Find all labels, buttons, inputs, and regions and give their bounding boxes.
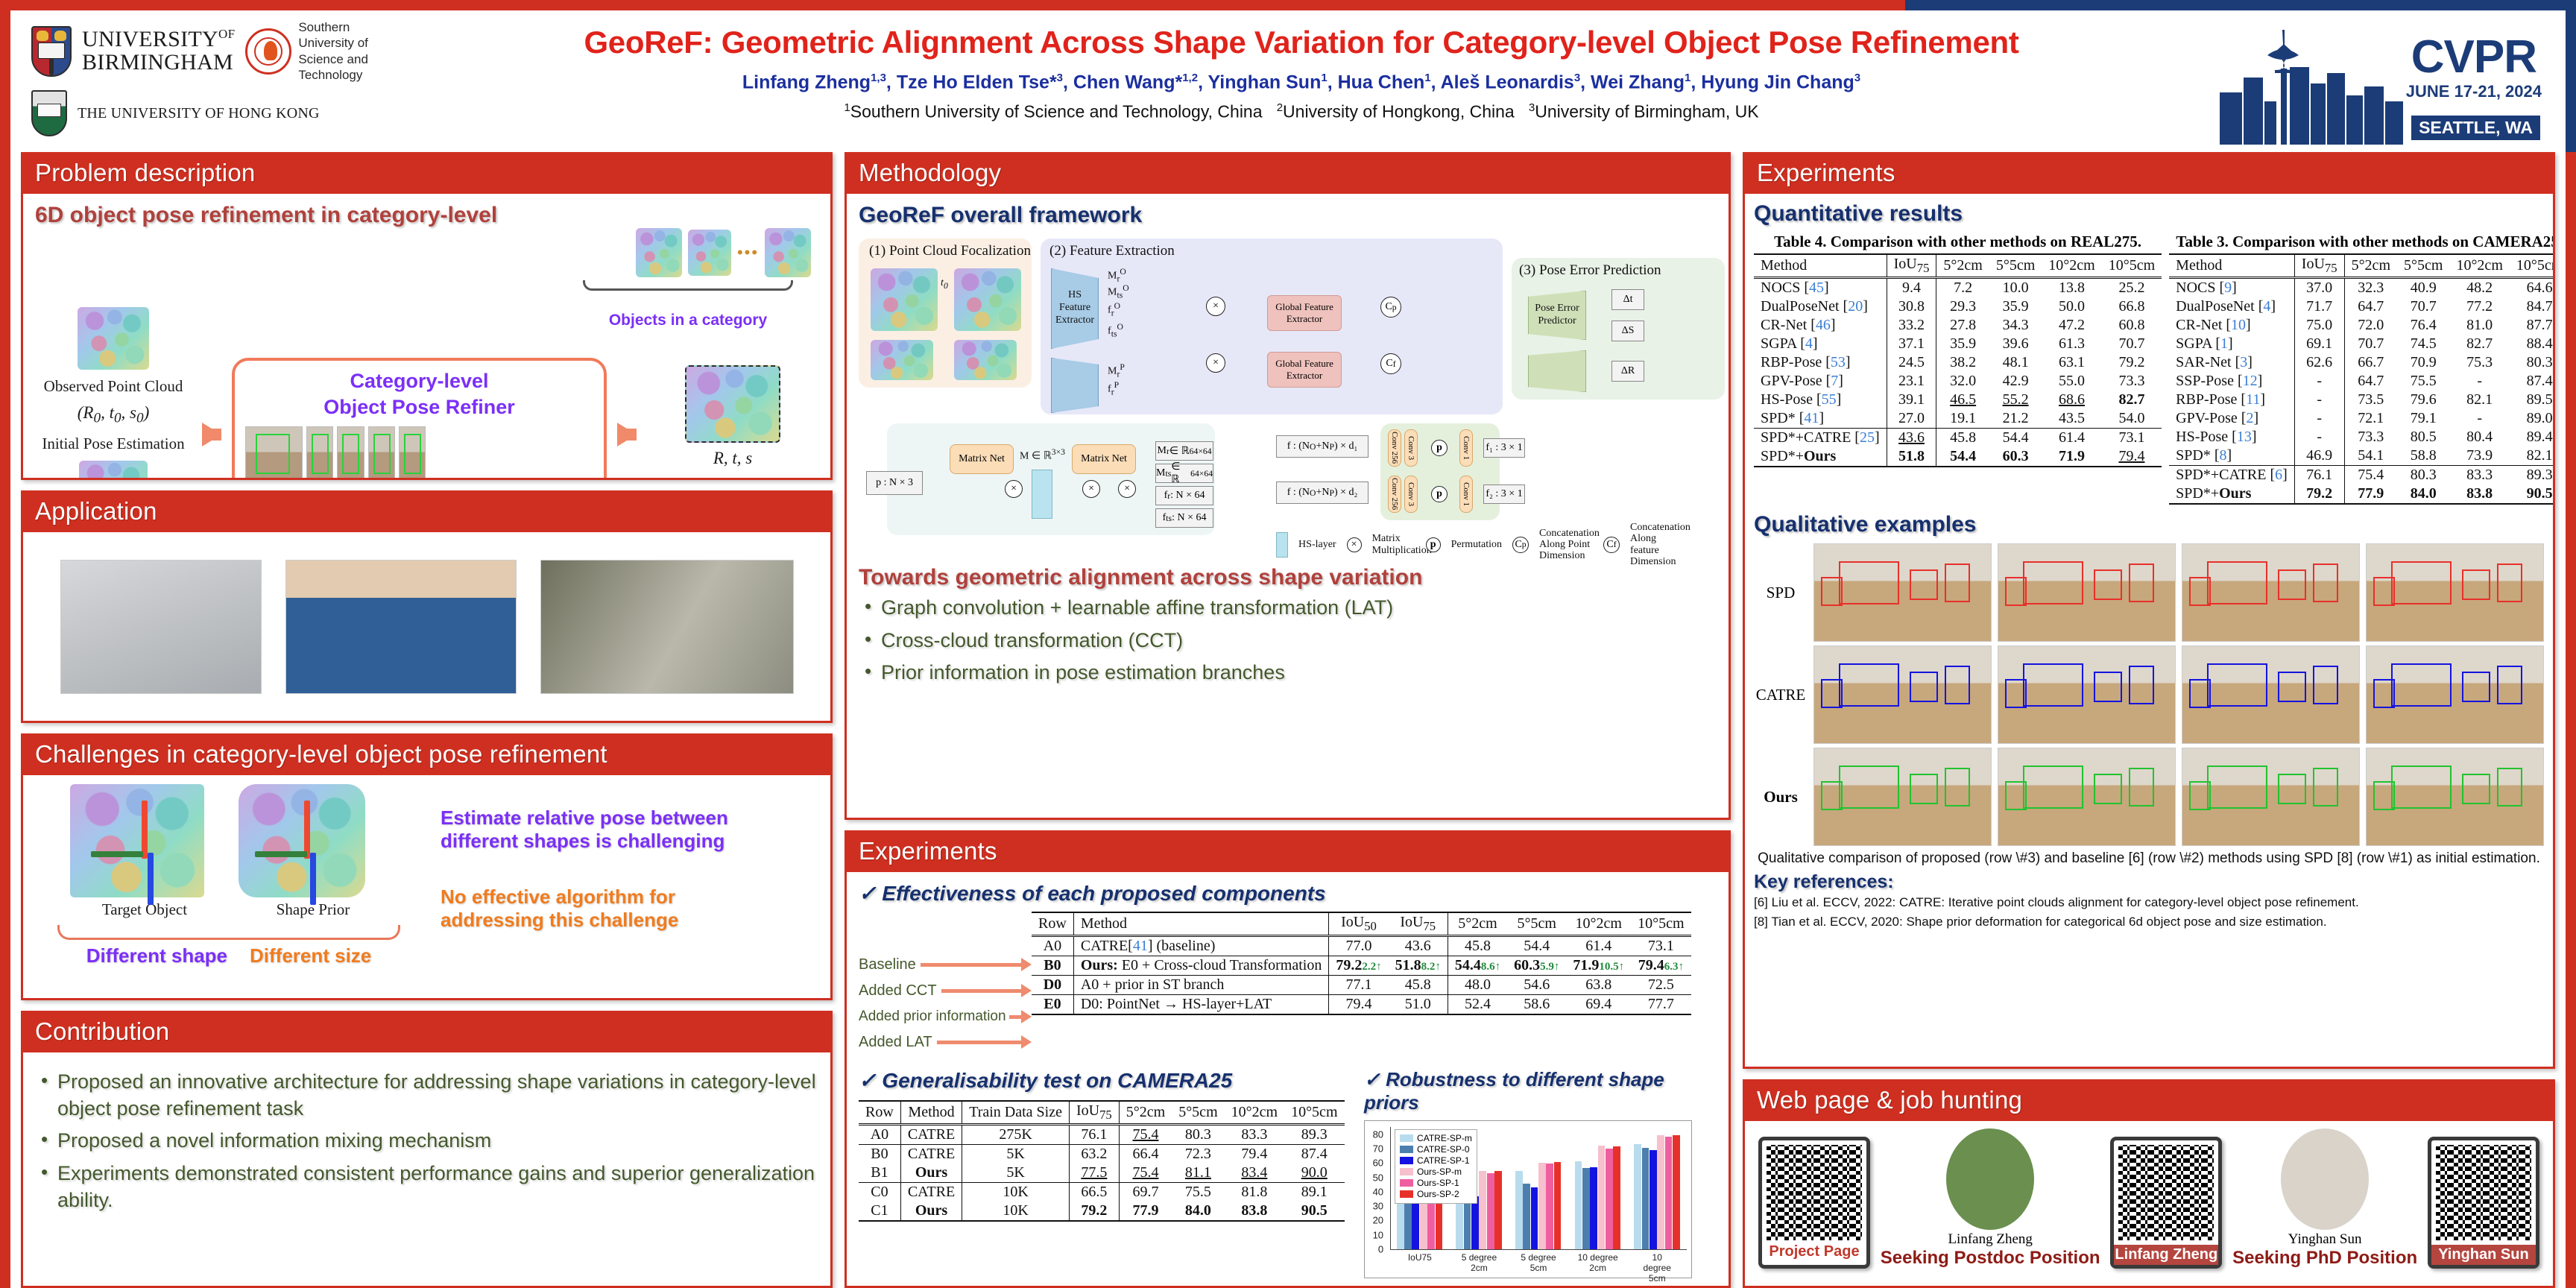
panel-application-heading: Application: [23, 493, 830, 532]
cell-value: -: [2449, 409, 2509, 428]
annotation-arrow-icon: [937, 1041, 1023, 1044]
cell-value: 89.1: [1284, 1183, 1344, 1202]
cell-value: 84.7: [2510, 297, 2555, 316]
concat-point-icon: Cp: [1380, 297, 1401, 318]
cell-method: SPD*+CATRE [6]: [2169, 466, 2294, 485]
cell-row-id: C1: [859, 1202, 900, 1221]
conv1-node: Conv 1: [1459, 476, 1473, 513]
initial-pose-estimation-label: Initial Pose Estimation: [42, 435, 184, 453]
pointcloud-thumb: [636, 228, 682, 277]
cell-value: 66.7: [2344, 353, 2397, 372]
fts-output-node: fts : N × 64: [1155, 508, 1213, 528]
cell-value: 54.4: [1507, 936, 1566, 956]
cell-value: 79.1: [2397, 409, 2449, 428]
cell-value: 87.4: [1284, 1145, 1344, 1164]
t0-label: t0: [941, 277, 948, 291]
stage1-output-pointcloud: [954, 268, 1021, 331]
cell-value: 35.9: [1936, 335, 1989, 353]
qualitative-image: [2366, 748, 2544, 846]
table-row: HS-Pose [55]39.146.555.268.682.7: [1754, 391, 2162, 409]
panel-webpage-heading: Web page & job hunting: [1745, 1082, 2553, 1121]
matmul-icon: ×: [1118, 480, 1136, 498]
generalisability-section: ✓ Generalisability test on CAMERA25 Row …: [859, 1068, 1351, 1278]
legend-entry: Ours-SP-2: [1400, 1189, 1472, 1199]
legend-label: Ours-SP-m: [1417, 1167, 1462, 1177]
cell-value: 32.0: [1936, 372, 1989, 391]
cell-value: 32.3: [2344, 278, 2397, 298]
cell-value: 43.6: [1887, 429, 1936, 448]
cell-row-id: E0: [1032, 995, 1073, 1015]
chart-bar: [1650, 1150, 1657, 1249]
hku-crest-icon: [31, 90, 67, 136]
institution-logos: UNIVERSITYOF BIRMINGHAM Southern Univers…: [10, 10, 398, 136]
annotation-label: Baseline: [859, 956, 916, 973]
hs-feature-extractor-2: [1051, 358, 1099, 413]
col-iou75: IoU75: [1389, 912, 1448, 936]
cvpr-location: SEATTLE, WA: [2411, 116, 2540, 140]
pointcloud-thumb: [688, 230, 731, 276]
chart-bar: [1657, 1135, 1664, 1249]
table3-caption: Table 3. Comparison with other methods o…: [2169, 233, 2555, 251]
logo-row-top: UNIVERSITYOF BIRMINGHAM Southern Univers…: [31, 19, 398, 83]
cell-value: 89.4: [2510, 428, 2555, 446]
cell-value: 74.5: [2397, 335, 2449, 353]
framework-diagram: (1) Point Cloud Focalization t0 (2) Feat…: [859, 234, 1717, 555]
cell-value: 79.4: [2102, 447, 2162, 467]
qr-card-project-page[interactable]: Project Page: [1758, 1137, 1870, 1269]
table-row: SPD*+CATRE [6]76.175.480.383.389.3: [2169, 466, 2555, 485]
chart-x-tick: 10 degree2cm: [1578, 1253, 1618, 1274]
table3-block: Table 3. Comparison with other methods o…: [2169, 233, 2555, 505]
application-image-robot: [60, 560, 262, 694]
qualitative-row: CATRE: [1754, 645, 2544, 744]
col-5-5cm: 5°5cm: [2397, 254, 2449, 278]
feature-input-d2: f : (NO+NP) × d₂: [1276, 482, 1368, 504]
annotation-prior: Added prior information: [859, 1004, 1032, 1029]
permutation-icon: p: [1431, 486, 1448, 502]
iteration-image: [245, 426, 303, 480]
qualitative-image: [1813, 748, 1992, 846]
cell-value: 60.3: [1989, 447, 2042, 467]
shape-prior-pointcloud: [239, 784, 365, 897]
matmul-icon: ×: [1005, 480, 1023, 498]
f1-output-node: f₁ : 3 × 1: [1483, 438, 1525, 458]
cell-value: 27.8: [1936, 316, 1989, 335]
concat-feature-legend-icon: Cf: [1603, 537, 1620, 553]
legend-matrix-mult: Matrix Multiplication: [1372, 533, 1415, 556]
matmul-icon: ×: [1206, 297, 1225, 316]
legend-permutation: Permutation: [1451, 539, 1502, 551]
birmingham-crest-icon: [31, 26, 72, 77]
experiments-bottom-row: ✓ Generalisability test on CAMERA25 Row …: [859, 1068, 1717, 1278]
col-method: Method: [1073, 912, 1329, 936]
col-iou50: IoU50: [1329, 912, 1389, 936]
keyrefs-title: Key references:: [1754, 871, 2544, 893]
chart-legend: CATRE-SP-mCATRE-SP-0CATRE-SP-1Ours-SP-mO…: [1395, 1129, 1477, 1204]
cell-method: DualPoseNet [20]: [1754, 297, 1887, 316]
col-10-5cm: 10°5cm: [2102, 254, 2162, 278]
chart-bar: [1464, 1196, 1471, 1249]
qualitative-image: [1998, 748, 2176, 846]
chart-bar: [1494, 1171, 1502, 1249]
cell-value: -: [2294, 409, 2344, 428]
cell-value: 54.6: [1507, 976, 1566, 995]
challenges-figure: Target Object Shape Prior: [35, 784, 423, 989]
Mr-O-label: MrO: [1108, 267, 1126, 283]
cell-value: 73.1: [2102, 429, 2162, 448]
pose-error-predictor-label: Pose Error Predictor: [1529, 303, 1585, 328]
chart-bar: [1582, 1168, 1590, 1249]
chart-y-tick: 50: [1365, 1172, 1387, 1183]
col-row: Row: [859, 1101, 900, 1125]
rts-label: R, t, s: [647, 449, 818, 468]
cell-value: 58.6: [1507, 995, 1566, 1015]
cell-value: 13.8: [2042, 278, 2101, 298]
qr-code-icon[interactable]: [1767, 1145, 1862, 1240]
problem-flow: Observed Point Cloud (R0, t0, s0) Initia…: [35, 307, 818, 480]
title-block: GeoReF: Geometric Alignment Across Shape…: [398, 10, 2205, 121]
chart-bar: [1538, 1163, 1546, 1249]
cell-method: NOCS [45]: [1754, 278, 1887, 298]
qualitative-image: [2182, 748, 2360, 846]
cell-value: 42.9: [1989, 372, 2042, 391]
iteration-image: [399, 426, 426, 480]
cell-value: 24.5: [1887, 353, 1936, 372]
table-row: NOCS [9]37.032.340.948.264.6: [2169, 278, 2555, 298]
observed-pointcloud-image: [78, 307, 149, 370]
cell-value: 76.4: [2397, 316, 2449, 335]
uob-line2: BIRMINGHAM: [82, 50, 233, 75]
col-10-5cm: 10°5cm: [2510, 254, 2555, 278]
cell-value: 75.5: [2397, 372, 2449, 391]
cell-value: 34.3: [1989, 316, 2042, 335]
page-title: GeoReF: Geometric Alignment Across Shape…: [398, 25, 2205, 60]
avatar: [1946, 1128, 2034, 1230]
stage3-label: (3) Pose Error Prediction: [1519, 262, 1661, 279]
chart-bar: [1613, 1146, 1620, 1249]
ellipsis-icon: •••: [737, 243, 759, 262]
matmul-legend-icon: ×: [1347, 537, 1362, 552]
col-iou75: IoU75: [1069, 1101, 1119, 1125]
iteration-image: [337, 426, 364, 480]
cell-value: 80.5: [2397, 428, 2449, 446]
panel-application-body: [23, 532, 830, 721]
cell-value: 45.8: [1936, 429, 1989, 448]
chart-y-tick: 70: [1365, 1143, 1387, 1154]
cell-method: CR-Net [46]: [1754, 316, 1887, 335]
cell-value: 77.9: [2344, 484, 2397, 504]
conv256-node: Conv 256: [1388, 476, 1401, 513]
cell-value: 69.1: [2294, 335, 2344, 353]
quantitative-title: Quantitative results: [1754, 201, 2544, 227]
col-iou75: IoU75: [1887, 254, 1936, 278]
cell-value: 75.4: [1119, 1164, 1172, 1183]
cell-value: 80.3: [2510, 353, 2555, 372]
pointcloud-thumb: [765, 228, 811, 277]
towards-title: Towards geometric alignment across shape…: [859, 565, 1717, 590]
cell-value: 83.3: [2449, 466, 2509, 485]
f2-output-node: f₂ : 3 × 1: [1483, 484, 1525, 504]
table-row: SGPA [1]69.170.774.582.788.4: [2169, 335, 2555, 353]
panel-experiments-right: Experiments Quantitative results Table 4…: [1743, 152, 2555, 1069]
col-train-size: Train Data Size: [962, 1101, 1070, 1125]
panel-contribution: Contribution Proposed an innovative arch…: [21, 1011, 833, 1288]
cell-value: 75.4: [1119, 1125, 1172, 1145]
qr-code-icon[interactable]: [2436, 1145, 2531, 1240]
keyref-item: [8] Tian et al. ECCV, 2020: Shape prior …: [1754, 912, 2544, 932]
arrow-right-icon: [202, 423, 221, 446]
table-row: SGPA [4]37.135.939.661.370.7: [1754, 335, 2162, 353]
cell-value: 73.5: [2344, 391, 2397, 409]
panel-challenges-heading: Challenges in category-level object pose…: [23, 736, 830, 775]
cell-value: 48.2: [2449, 278, 2509, 298]
panel-problem-body: 6D object pose refinement in category-le…: [23, 194, 830, 480]
cell-value: 50.0: [2042, 297, 2101, 316]
chart-y-tick: 20: [1365, 1215, 1387, 1226]
cell-method: SGPA [1]: [2169, 335, 2294, 353]
chart-x-tick: 5 degree5cm: [1521, 1253, 1556, 1274]
estimate-line1: Estimate relative pose between: [441, 806, 818, 830]
qualitative-row-label: Ours: [1754, 788, 1808, 806]
qr-card-yinghan-sun[interactable]: Yinghan Sun: [2428, 1137, 2539, 1269]
qualitative-image: [2366, 645, 2544, 744]
cell-row-id: D0: [1032, 976, 1073, 995]
noalgo-line2: addressing this challenge: [441, 909, 818, 932]
col-5-5cm: 5°5cm: [1172, 1101, 1224, 1125]
qualitative-image: [1998, 645, 2176, 744]
Mr-output-node: Mr ∈ ℝ64×64: [1155, 441, 1213, 461]
col-5-2cm: 5°2cm: [1119, 1101, 1172, 1125]
person-linfang-zheng: Linfang Zheng Seeking Postdoc Position: [1881, 1128, 2100, 1269]
cell-value: 51.8: [1887, 447, 1936, 467]
qualitative-row-label: CATRE: [1754, 686, 1808, 704]
cell-value: 80.3: [1172, 1125, 1224, 1145]
cell-value: 43.6: [1389, 936, 1448, 956]
qualitative-row: SPD: [1754, 543, 2544, 642]
feature-input-d1: f : (NO+NP) × d₁: [1276, 435, 1368, 458]
cell-value: 64.7: [2344, 372, 2397, 391]
cell-method: HS-Pose [13]: [2169, 428, 2294, 446]
chart-bar: [1606, 1149, 1613, 1249]
cell-value: 76.1: [2294, 466, 2344, 485]
arrow-right-icon: [617, 423, 637, 446]
stage2-label: (2) Feature Extraction: [1049, 243, 1175, 259]
qr-card-linfang-zheng[interactable]: Linfang Zheng: [2110, 1137, 2222, 1269]
poster-root: UNIVERSITYOF BIRMINGHAM Southern Univers…: [0, 0, 2576, 1288]
poster-columns: Problem description 6D object pose refin…: [10, 152, 2566, 1288]
cell-value: 71.7: [2294, 297, 2344, 316]
cell-value: 9.4: [1887, 278, 1936, 298]
cell-row-id: B1: [859, 1164, 900, 1183]
cell-row-id: A0: [1032, 936, 1073, 956]
cell-value: 21.2: [1989, 409, 2042, 429]
cell-value: 90.5: [2510, 484, 2555, 504]
qualitative-image: [2366, 543, 2544, 642]
cell-value: 54.0: [2102, 409, 2162, 429]
axis-arrow-up-icon: [304, 801, 310, 859]
different-size-label: Different size: [250, 944, 371, 967]
different-shape-label: Different shape: [86, 944, 227, 967]
check-icon: ✓: [1364, 1068, 1380, 1090]
cell-value: 87.4: [2510, 372, 2555, 391]
cell-value: 27.0: [1887, 409, 1936, 429]
col-10-5cm: 10°5cm: [1631, 912, 1690, 936]
legend-entry: Ours-SP-m: [1400, 1167, 1472, 1177]
table4-block: Table 4. Comparison with other methods o…: [1754, 233, 2162, 505]
framework-legend: HS-layer × Matrix Multiplication p Permu…: [1276, 522, 1685, 568]
challenge-images: Target Object Shape Prior: [35, 784, 423, 919]
matrix-net-2: Matrix Net: [1072, 444, 1136, 474]
sustech-logo-text: Southern University of Science and Techn…: [298, 19, 398, 83]
concat-point-legend-icon: Cp: [1512, 537, 1529, 553]
cell-value: 70.7: [2102, 335, 2162, 353]
column-middle: Methodology GeoReF overall framework (1)…: [845, 152, 1731, 1288]
cell-value: 46.9: [2294, 446, 2344, 466]
refiner-title-line2: Object Pose Refiner: [245, 394, 593, 420]
uob-line1: UNIVERSITY: [82, 27, 218, 51]
axis-arrow-down-icon: [310, 853, 316, 905]
cell-method: SPD*+Ours: [1754, 447, 1887, 467]
cell-value: 83.4: [1225, 1164, 1284, 1183]
panel-webpage-body: Project Page Linfang Zheng Seeking Postd…: [1745, 1121, 2553, 1286]
qualitative-image: [1998, 543, 2176, 642]
chart-bar: [1515, 1171, 1523, 1249]
cell-value: 75.3: [2449, 353, 2509, 372]
cell-value: 70.9: [2397, 353, 2449, 372]
contribution-bullet: Experiments demonstrated consistent perf…: [35, 1161, 818, 1213]
cvpr-date: JUNE 17-21, 2024: [2406, 83, 2542, 100]
seeking-label: Seeking Postdoc Position: [1881, 1248, 2100, 1269]
observed-pointcloud-label: Observed Point Cloud: [44, 377, 183, 396]
cell-value: 73.1: [1631, 936, 1690, 956]
delta-t-output: Δt: [1611, 289, 1644, 310]
cell-row-id: B0: [859, 1145, 900, 1164]
Mr-P-label: MrP: [1108, 362, 1125, 379]
cell-value: 81.1: [1172, 1164, 1224, 1183]
table-row: B1 Ours 5K 77.5 75.4 81.1 83.4 90.0: [859, 1164, 1344, 1183]
cell-value: 79.6: [2397, 391, 2449, 409]
panel-challenges-body: Target Object Shape Prior: [23, 775, 830, 998]
pose-refiner-box: Category-level Object Pose Refiner Initi…: [232, 358, 607, 480]
chart-x-tick: 10 degree5cm: [1640, 1253, 1674, 1284]
cell-value: 66.5: [1069, 1183, 1119, 1202]
matmul-icon: ×: [1082, 480, 1100, 498]
cell-value: 77.0: [1329, 936, 1389, 956]
seattle-skyline-icon: [2218, 24, 2405, 145]
table-row: CR-Net [10]75.072.076.481.087.7: [2169, 316, 2555, 335]
cell-value: 71.910.5↑: [1566, 956, 1631, 976]
cell-value: 77.5: [1069, 1164, 1119, 1183]
towards-bullet: Graph convolution + learnable affine tra…: [859, 595, 1717, 622]
cell-value: 79.4: [1225, 1145, 1284, 1164]
table-row: SAR-Net [3]62.666.770.975.380.3: [2169, 353, 2555, 372]
permutation-legend-icon: p: [1426, 537, 1441, 552]
cell-method: NOCS [9]: [2169, 278, 2294, 298]
cell-row-id: C0: [859, 1183, 900, 1202]
cell-value: 69.4: [1566, 995, 1631, 1015]
panel-experiments-right-body: Quantitative results Table 4. Comparison…: [1745, 194, 2553, 1067]
cell-value: 64.7: [2344, 297, 2397, 316]
robust-title: ✓ Robustness to different shape priors: [1364, 1068, 1717, 1114]
challenge-brace-icon: [57, 925, 400, 940]
cell-value: 48.1: [1989, 353, 2042, 372]
col-10-5cm: 10°5cm: [1284, 1101, 1344, 1125]
legend-label: Ours-SP-1: [1417, 1178, 1459, 1188]
col-method: Method: [900, 1101, 962, 1125]
cell-method: GPV-Pose [7]: [1754, 372, 1887, 391]
sustech-seal-icon: [245, 28, 291, 75]
panel-experiments-mid: Experiments ✓ Effectiveness of each prop…: [845, 830, 1731, 1288]
table-row: GPV-Pose [7]23.132.042.955.073.3: [1754, 372, 2162, 391]
challenge-tags: Different shape Different size: [35, 944, 423, 967]
global-feature-extractor-1: Global Feature Extractor: [1267, 295, 1342, 331]
cell-value: 79.2: [2294, 484, 2344, 504]
concat-feature-icon: Cf: [1380, 353, 1401, 374]
matmul-icon: ×: [1206, 353, 1225, 373]
cell-value: 33.2: [1887, 316, 1936, 335]
table-row: A0 CATRE 275K 76.1 75.4 80.3 83.3 89.3: [859, 1125, 1344, 1145]
table-row: NOCS [45]9.47.210.013.825.2: [1754, 278, 2162, 298]
legend-concat-point: Concatenation Along Point Dimension: [1539, 528, 1593, 562]
table-header-row: Row Method Train Data Size IoU75 5°2cm 5…: [859, 1101, 1344, 1125]
cell-value: 63.8: [1566, 976, 1631, 995]
robustness-section: ✓ Robustness to different shape priors 0…: [1364, 1068, 1717, 1278]
chart-bar: [1673, 1135, 1680, 1249]
qualitative-image: [1813, 543, 1992, 642]
cell-value: 82.1: [2449, 391, 2509, 409]
table-header-row: Row Method IoU50 IoU75 5°2cm 5°5cm 10°2c…: [1032, 912, 1690, 936]
ablation-section: Baseline Added CCT Added prior informati…: [859, 912, 1717, 1055]
cell-method: CATRE: [900, 1145, 962, 1164]
axis-arrow-left-icon: [255, 851, 307, 857]
table-row: DualPoseNet [4]71.764.770.777.284.7: [2169, 297, 2555, 316]
fr-output-node: fr : N × 64: [1155, 486, 1213, 505]
person-yinghan-sun: Yinghan Sun Seeking PhD Position: [2232, 1128, 2417, 1269]
target-object-figure: Target Object: [70, 784, 219, 919]
table-row: CR-Net [46]33.227.834.347.260.8: [1754, 316, 2162, 335]
chart-bar: [1665, 1137, 1673, 1249]
cell-value: 7.2: [1936, 278, 1989, 298]
shape-prior-figure: Shape Prior: [239, 784, 388, 919]
chart-y-axis: [1390, 1127, 1391, 1249]
cell-value: 48.0: [1448, 976, 1507, 995]
category-brace-icon: [583, 280, 793, 291]
cell-value: 70.7: [2344, 335, 2397, 353]
cell-value: 75.4: [2344, 466, 2397, 485]
table3-camera25: Method IoU75 5°2cm 5°5cm 10°2cm 10°5cm N…: [2169, 253, 2555, 505]
cell-value: 79.2: [1069, 1202, 1119, 1221]
cell-train-size: 10K: [962, 1202, 1070, 1221]
cell-value: 61.4: [2042, 429, 2101, 448]
cell-value: 40.9: [2397, 278, 2449, 298]
chart-bar: [1479, 1171, 1486, 1249]
qr-code-icon[interactable]: [2118, 1145, 2214, 1240]
hs-layer-legend-icon: [1276, 532, 1288, 558]
affiliation-list: 1Southern University of Science and Tech…: [398, 101, 2205, 122]
table-header-row: Method IoU75 5°2cm 5°5cm 10°2cm 10°5cm: [1754, 254, 2162, 278]
cell-method: Ours: E0 + Cross-cloud Transformation: [1073, 956, 1329, 976]
cell-value: 37.1: [1887, 335, 1936, 353]
chart-bar: [1554, 1162, 1562, 1249]
panel-application: Application: [21, 490, 833, 723]
avatar: [2281, 1128, 2369, 1230]
cell-method: SPD* [8]: [2169, 446, 2294, 466]
pose-error-predictor-2: [1528, 350, 1586, 392]
panel-contribution-heading: Contribution: [23, 1013, 830, 1052]
annotation-label: Added LAT: [859, 1034, 932, 1051]
chart-y-tick: 40: [1365, 1186, 1387, 1197]
person-name: Linfang Zheng: [1881, 1231, 2100, 1248]
